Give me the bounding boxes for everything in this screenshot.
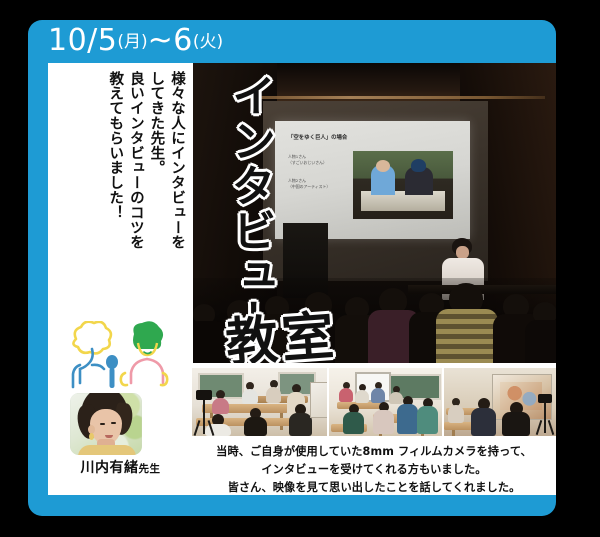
caption: 当時、ご自身が使用していた8mm フィルムカメラを持って、 インタビューを受けて… xyxy=(192,443,556,495)
photo-strip xyxy=(192,368,556,436)
slide-text-block-1: 人物1さん （すごいおじいさん） xyxy=(288,154,327,165)
speaker-name-suffix: 先生 xyxy=(139,463,161,475)
main-photo: 「空をゆく巨人」の場合 人物1さん （すごいおじいさん） 人物2さん （中国のア… xyxy=(193,63,556,363)
date-label: 10/5(月)~6(火) xyxy=(48,19,223,63)
date-month-day: 10/5 xyxy=(48,23,117,58)
left-column: 様々な人にインタビューを してきた先生。 良いインタビューのコツを 教えてもらい… xyxy=(48,63,193,495)
strip-photo-2 xyxy=(329,368,442,436)
slide-title: 「空をゆく巨人」の場合 xyxy=(288,133,347,141)
date-range-mark: ~ xyxy=(148,23,174,58)
avatar xyxy=(70,393,142,455)
title-accent: 教室 xyxy=(223,293,340,363)
poster-root: 10/5(月)~6(火) 様々な人にインタビューを してきた先生。 良いインタビ… xyxy=(0,0,600,537)
projection-screen: 「空をゆく巨人」の場合 人物1さん （すごいおじいさん） 人物2さん （中国のア… xyxy=(275,121,470,239)
date-day1-label: (月) xyxy=(117,32,147,52)
caption-line-3: 皆さん、映像を見て思い出したことを話してくれました。 xyxy=(192,479,556,495)
caption-line-1: 当時、ご自身が使用していた8mm フィルムカメラを持って、 xyxy=(192,443,556,461)
date-day2-label: (火) xyxy=(193,32,223,52)
slide-text-block-2: 人物2さん （中国のアーティスト） xyxy=(288,178,330,189)
speaker-name-text: 川内有緒 xyxy=(81,460,139,476)
lead-text: 様々な人にインタビューを してきた先生。 良いインタビューのコツを 教えてもらい… xyxy=(105,71,187,346)
interview-illustration xyxy=(62,321,172,393)
strip-photo-1 xyxy=(192,368,327,436)
white-card: 様々な人にインタビューを してきた先生。 良いインタビューのコツを 教えてもらい… xyxy=(48,63,556,495)
caption-line-2: インタビューを受けてくれる方もいました。 xyxy=(192,461,556,479)
slide-inset-photo xyxy=(353,151,453,219)
date-day2: 6 xyxy=(173,23,193,58)
speaker-name: 川内有緒先生 xyxy=(48,457,193,477)
title-vertical: インタビュー xyxy=(213,73,271,333)
strip-photo-3 xyxy=(444,368,556,436)
speaker-portrait-wrap xyxy=(70,393,142,455)
